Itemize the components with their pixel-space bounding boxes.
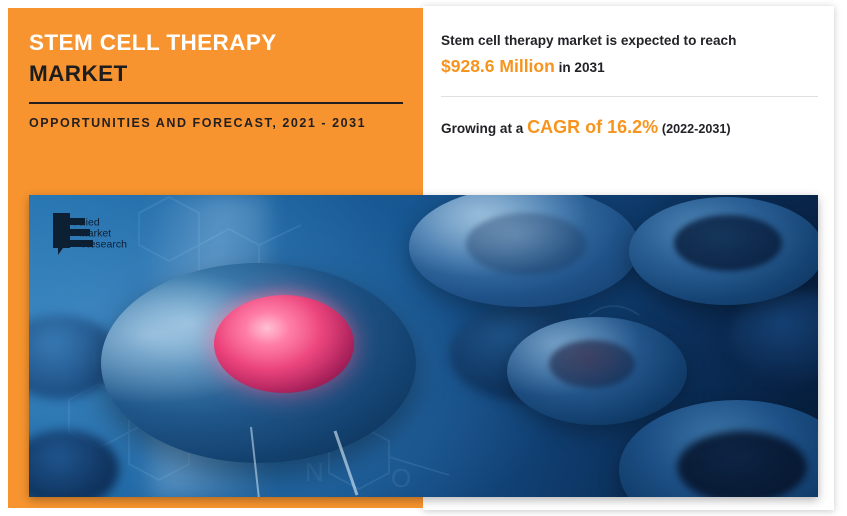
stem-cell-nucleus [549,340,635,388]
logo-line-1: Allied [74,217,100,229]
stats-divider [441,96,818,97]
stem-cell-nucleus [677,431,807,497]
title-rule [29,102,403,104]
allied-market-research-logo: Allied Market Research [51,212,143,256]
market-value-figure: $928.6 Million [441,56,555,76]
market-value-prefix: Stem cell therapy market is expected to … [441,33,736,48]
primary-stem-cell-nucleus-glow [207,289,362,399]
cell-filament-icon [239,425,379,497]
market-value-headline: Stem cell therapy market is expected to … [441,30,817,80]
infographic-banner: Stem cell therapy market is expected to … [0,0,847,516]
hero-image: N O H [29,195,818,497]
cagr-headline: Growing at a CAGR of 16.2% (2022-2031) [441,114,821,141]
page-title-line-1: STEM CELL THERAPY [29,30,277,55]
cagr-block: Growing at a CAGR of 16.2% (2022-2031) [441,114,821,141]
page-title: STEM CELL THERAPY MARKET [29,28,404,89]
market-value-suffix: in 2031 [559,60,605,75]
title-block: STEM CELL THERAPY MARKET OPPORTUNITIES A… [29,28,404,134]
market-value-block: Stem cell therapy market is expected to … [441,30,817,80]
cagr-prefix: Growing at a [441,121,523,136]
page-title-line-2: MARKET [29,61,128,86]
report-subtitle: OPPORTUNITIES AND FORECAST, 2021 - 2031 [29,114,404,133]
stem-cell-nucleus [466,213,586,275]
cagr-figure: CAGR of 16.2% [527,117,658,137]
stem-cell-nucleus [674,215,782,271]
logo-line-3: Research [82,239,127,251]
cagr-period: (2022-2031) [662,122,731,136]
svg-text:O: O [391,463,411,493]
logo-line-2: Market [79,228,111,240]
